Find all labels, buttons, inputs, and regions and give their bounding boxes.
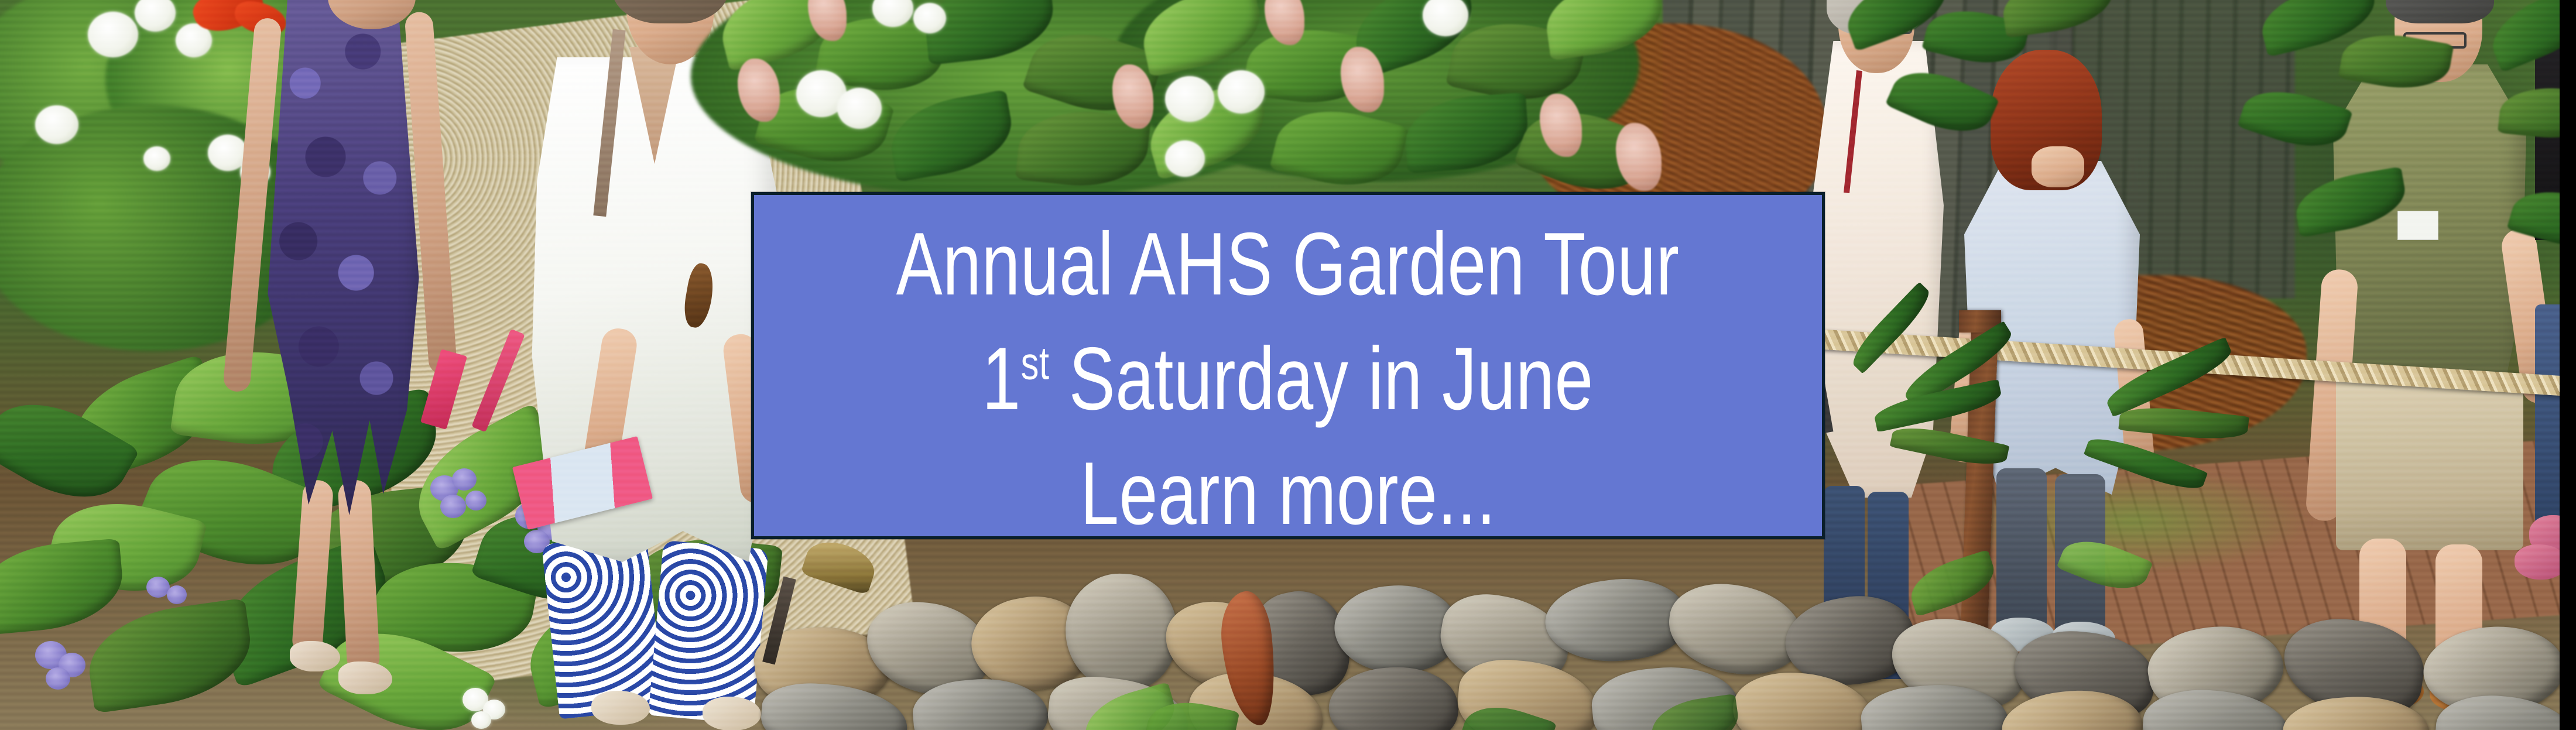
banner-date-number: 1 [982, 329, 1021, 429]
garden-tour-callout-banner[interactable]: Annual AHS Garden Tour 1st Saturday in J… [751, 192, 1825, 539]
banner-learn-more-link[interactable]: Learn more... [1080, 436, 1496, 551]
right-edge-black-bar [2560, 0, 2576, 730]
banner-title-line: Annual AHS Garden Tour [896, 207, 1680, 321]
banner-date-rest: Saturday in June [1050, 329, 1594, 429]
hero-banner-image: Annual AHS Garden Tour 1st Saturday in J… [0, 0, 2576, 730]
banner-date-ordinal-suffix: st [1021, 337, 1050, 389]
name-badge [2397, 211, 2438, 240]
banner-date-line: 1st Saturday in June [982, 321, 1594, 436]
